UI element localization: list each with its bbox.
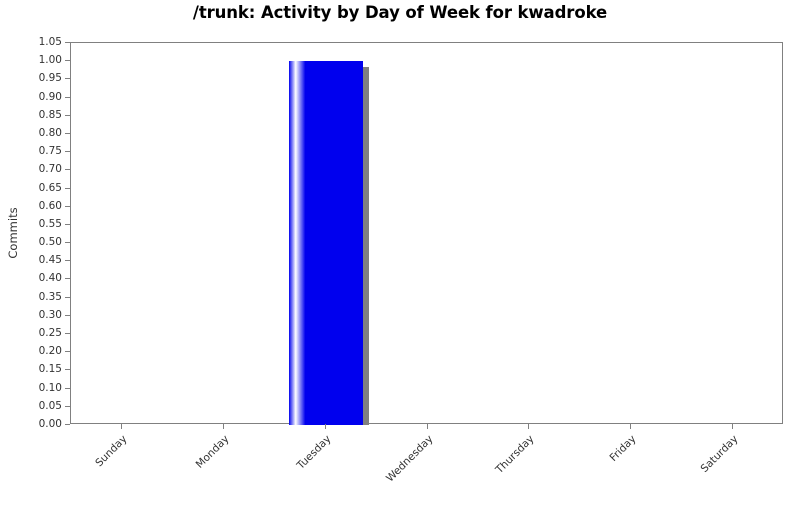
- y-axis-tick-label: 0.05: [0, 399, 62, 413]
- y-axis-tick-label: 0.75: [0, 144, 62, 158]
- y-axis-tick-label: 0.95: [0, 71, 62, 85]
- x-axis-tick-label: Friday: [545, 433, 638, 526]
- y-axis-tick-label: 0.35: [0, 290, 62, 304]
- y-axis-tick-label: 0.80: [0, 126, 62, 140]
- y-axis-tick-label: 0.15: [0, 362, 62, 376]
- y-axis-tick-label: 0.10: [0, 381, 62, 395]
- y-axis-tick-label: 0.70: [0, 162, 62, 176]
- x-axis-tick-label: Wednesday: [342, 433, 435, 526]
- y-axis-tick-mark: [65, 424, 70, 425]
- y-axis-tick-label: 0.85: [0, 108, 62, 122]
- x-axis-tick-label: Sunday: [36, 433, 129, 526]
- x-axis-tick-mark: [223, 424, 224, 429]
- x-axis-tick-mark: [121, 424, 122, 429]
- x-axis-tick-mark: [528, 424, 529, 429]
- x-axis-tick-label: Thursday: [443, 433, 536, 526]
- y-axis-tick-label: 0.90: [0, 90, 62, 104]
- x-axis-tick-mark: [325, 424, 326, 429]
- y-axis-tick-label: 0.45: [0, 253, 62, 267]
- x-axis-tick-mark: [427, 424, 428, 429]
- y-axis-tick-label: 1.00: [0, 53, 62, 67]
- x-axis-tick-mark: [732, 424, 733, 429]
- x-axis-tick-label: Saturday: [647, 433, 740, 526]
- y-axis-tick-label: 0.30: [0, 308, 62, 322]
- bar-fill: [289, 61, 363, 425]
- bar[interactable]: [289, 61, 363, 425]
- x-axis-tick-mark: [630, 424, 631, 429]
- chart-container: /trunk: Activity by Day of Week for kwad…: [0, 0, 800, 500]
- y-axis-tick-label: 0.25: [0, 326, 62, 340]
- y-axis-tick-label: 0.20: [0, 344, 62, 358]
- y-axis-tick-label: 0.65: [0, 181, 62, 195]
- y-axis-tick-label: 0.00: [0, 417, 62, 431]
- plot-area: [70, 42, 783, 424]
- y-axis-tick-label: 0.40: [0, 271, 62, 285]
- y-axis-tick-label: 0.50: [0, 235, 62, 249]
- x-axis-tick-label: Tuesday: [240, 433, 333, 526]
- y-axis-tick-label: 1.05: [0, 35, 62, 49]
- y-axis-tick-label: 0.55: [0, 217, 62, 231]
- x-axis-tick-label: Monday: [138, 433, 231, 526]
- chart-title: /trunk: Activity by Day of Week for kwad…: [0, 3, 800, 22]
- y-axis-tick-label: 0.60: [0, 199, 62, 213]
